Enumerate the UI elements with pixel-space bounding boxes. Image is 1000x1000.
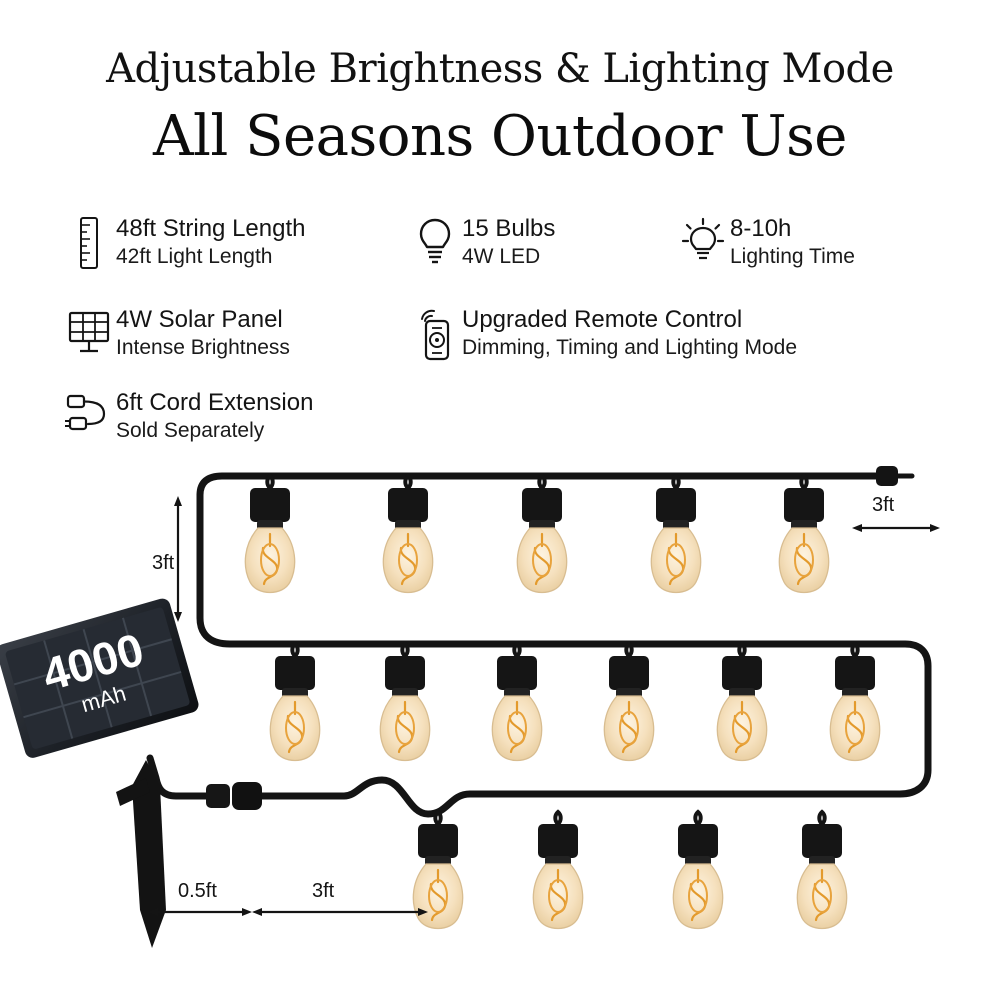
string-light-diagram: 4000 mAh xyxy=(0,440,1000,1000)
solar-panel-unit: 4000 mAh xyxy=(0,597,200,948)
diagram-svg: 4000 mAh xyxy=(0,440,1000,1000)
bulb-icon xyxy=(408,214,462,270)
feature-subtitle: 4W LED xyxy=(462,243,555,270)
feature-solar-panel-text: 4W Solar Panel Intense Brightness xyxy=(116,305,290,361)
product-infographic: Adjustable Brightness & Lighting Mode Al… xyxy=(0,0,1000,1000)
feature-cord-extension: 6ft Cord Extension Sold Separately xyxy=(62,388,313,444)
feature-title: 48ft String Length xyxy=(116,214,305,243)
solar-panel-icon xyxy=(62,305,116,357)
cord-extension-icon xyxy=(62,388,116,434)
feature-title: Upgraded Remote Control xyxy=(462,305,797,334)
feature-bulbs: 15 Bulbs 4W LED xyxy=(408,214,555,270)
feature-remote-control-text: Upgraded Remote Control Dimming, Timing … xyxy=(462,305,797,361)
feature-remote-control: Upgraded Remote Control Dimming, Timing … xyxy=(408,305,797,363)
dimension-label-tail-3ft: 3ft xyxy=(872,494,894,517)
feature-subtitle: Intense Brightness xyxy=(116,334,290,361)
feature-title: 8-10h xyxy=(730,214,855,243)
bulb-row-2 xyxy=(270,644,879,761)
feature-subtitle: Dimming, Timing and Lighting Mode xyxy=(462,334,797,361)
feature-subtitle: Lighting Time xyxy=(730,243,855,270)
bulb-row-1 xyxy=(245,476,828,593)
feature-title: 6ft Cord Extension xyxy=(116,388,313,417)
feature-lighting-time: 8-10h Lighting Time xyxy=(676,214,855,270)
feature-title: 4W Solar Panel xyxy=(116,305,290,334)
glowing-bulb-icon xyxy=(676,214,730,270)
wire-end-cap xyxy=(876,466,912,486)
feature-string-length-text: 48ft String Length 42ft Light Length xyxy=(116,214,305,270)
dimension-label-vertical-3ft: 3ft xyxy=(152,552,174,575)
bulb-row-3 xyxy=(413,812,846,929)
dimension-label-lead-0-5ft: 0.5ft xyxy=(178,880,217,903)
inline-connector xyxy=(206,782,262,810)
feature-string-length: 48ft String Length 42ft Light Length xyxy=(62,214,305,270)
headline-secondary: All Seasons Outdoor Use xyxy=(0,104,1000,169)
dimension-label-lead-3ft: 3ft xyxy=(312,880,334,903)
feature-cord-extension-text: 6ft Cord Extension Sold Separately xyxy=(116,388,313,444)
feature-title: 15 Bulbs xyxy=(462,214,555,243)
ruler-icon xyxy=(62,214,116,270)
feature-subtitle: 42ft Light Length xyxy=(116,243,305,270)
feature-solar-panel: 4W Solar Panel Intense Brightness xyxy=(62,305,290,361)
feature-lighting-time-text: 8-10h Lighting Time xyxy=(730,214,855,270)
remote-control-icon xyxy=(408,305,462,363)
feature-bulbs-text: 15 Bulbs 4W LED xyxy=(462,214,555,270)
headline-primary: Adjustable Brightness & Lighting Mode xyxy=(0,46,1000,92)
